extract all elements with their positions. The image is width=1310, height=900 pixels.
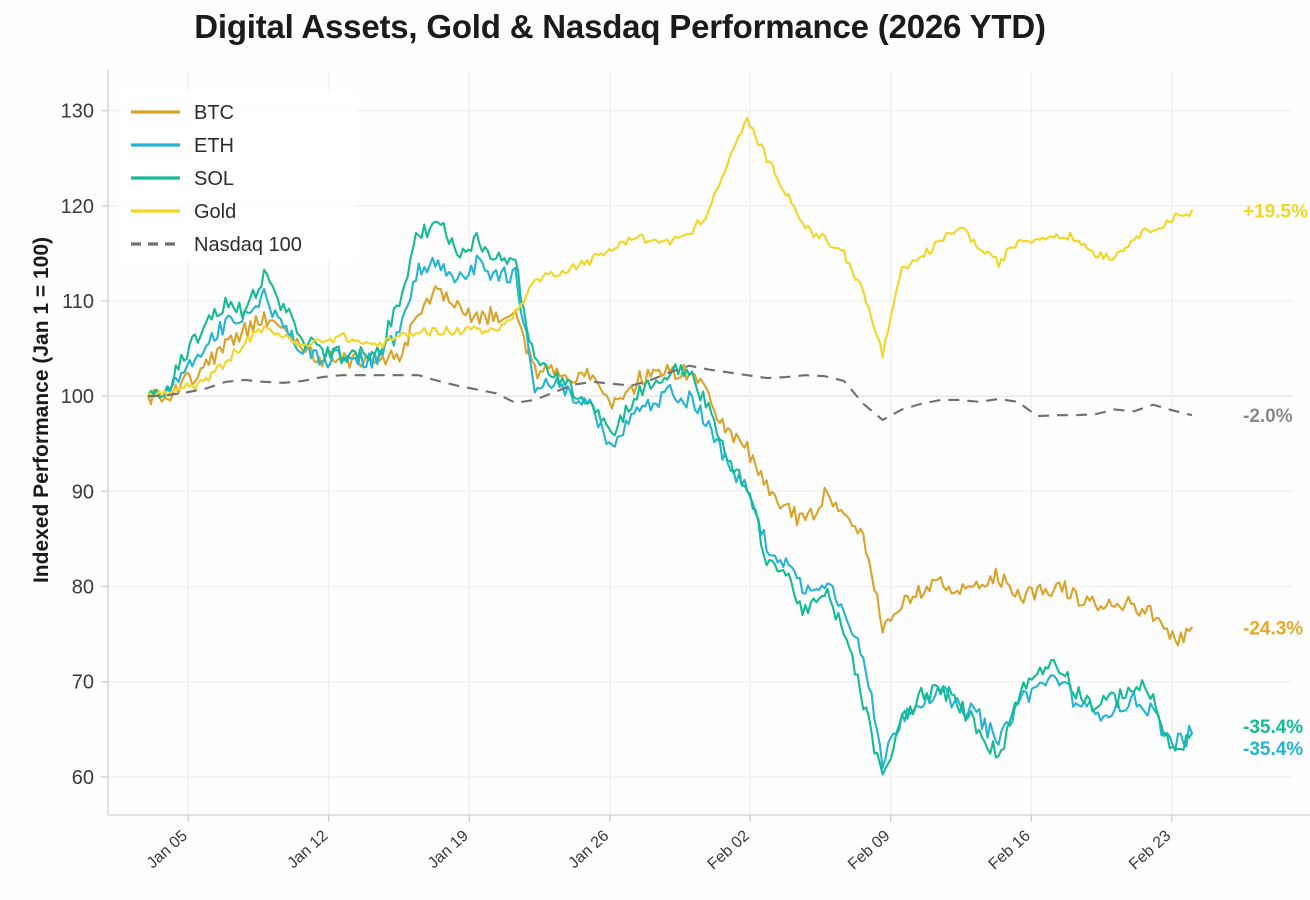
- legend[interactable]: BTCETHSOLGoldNasdaq 100: [118, 90, 356, 261]
- y-tick-label: 70: [72, 672, 94, 694]
- x-tick-label: Feb 23: [1126, 827, 1174, 873]
- legend-label-eth[interactable]: ETH: [194, 135, 234, 157]
- y-tick-label: 90: [72, 481, 94, 503]
- x-tick-label: Feb 16: [986, 827, 1034, 873]
- end-label-eth: -35.4%: [1243, 739, 1303, 760]
- end-label-nasdaq-100: -2.0%: [1243, 406, 1293, 427]
- legend-label-gold[interactable]: Gold: [194, 201, 236, 223]
- legend-label-nasdaq-100[interactable]: Nasdaq 100: [194, 234, 302, 256]
- end-label-btc: -24.3%: [1243, 618, 1303, 639]
- chart-canvas: Digital Assets, Gold & Nasdaq Performanc…: [0, 0, 1310, 900]
- x-tick-label: Feb 09: [845, 827, 893, 873]
- x-tick-label: Jan 12: [284, 827, 331, 872]
- y-tick-label: 110: [62, 291, 94, 313]
- legend-label-btc[interactable]: BTC: [194, 102, 234, 124]
- x-tick-labels: Jan 05Jan 12Jan 19Jan 26Feb 02Feb 09Feb …: [144, 827, 1175, 873]
- line-chart-plot: 13012011010090807060 Jan 05Jan 12Jan 19J…: [0, 0, 1310, 900]
- x-tick-label: Feb 02: [705, 827, 753, 873]
- y-tick-label: 130: [61, 101, 94, 123]
- y-tick-label: 80: [72, 577, 94, 599]
- end-label-gold: +19.5%: [1243, 202, 1308, 223]
- series-line-sol[interactable]: [148, 222, 1192, 775]
- y-tick-label: 60: [72, 767, 94, 789]
- y-tick-labels: 13012011010090807060: [61, 101, 94, 789]
- x-tick-label: Jan 05: [144, 827, 191, 872]
- legend-label-sol[interactable]: SOL: [194, 168, 234, 190]
- x-tick-label: Jan 19: [425, 827, 472, 872]
- end-label-sol: -35.4%: [1243, 717, 1303, 738]
- series-line-eth[interactable]: [148, 256, 1192, 768]
- series-line-btc[interactable]: [148, 286, 1192, 645]
- end-value-labels: +19.5%-2.0%-24.3%-35.4%-35.4%: [1243, 202, 1308, 761]
- y-tick-label: 120: [61, 196, 94, 218]
- x-tick-label: Jan 26: [565, 827, 612, 872]
- y-tick-label: 100: [61, 386, 94, 408]
